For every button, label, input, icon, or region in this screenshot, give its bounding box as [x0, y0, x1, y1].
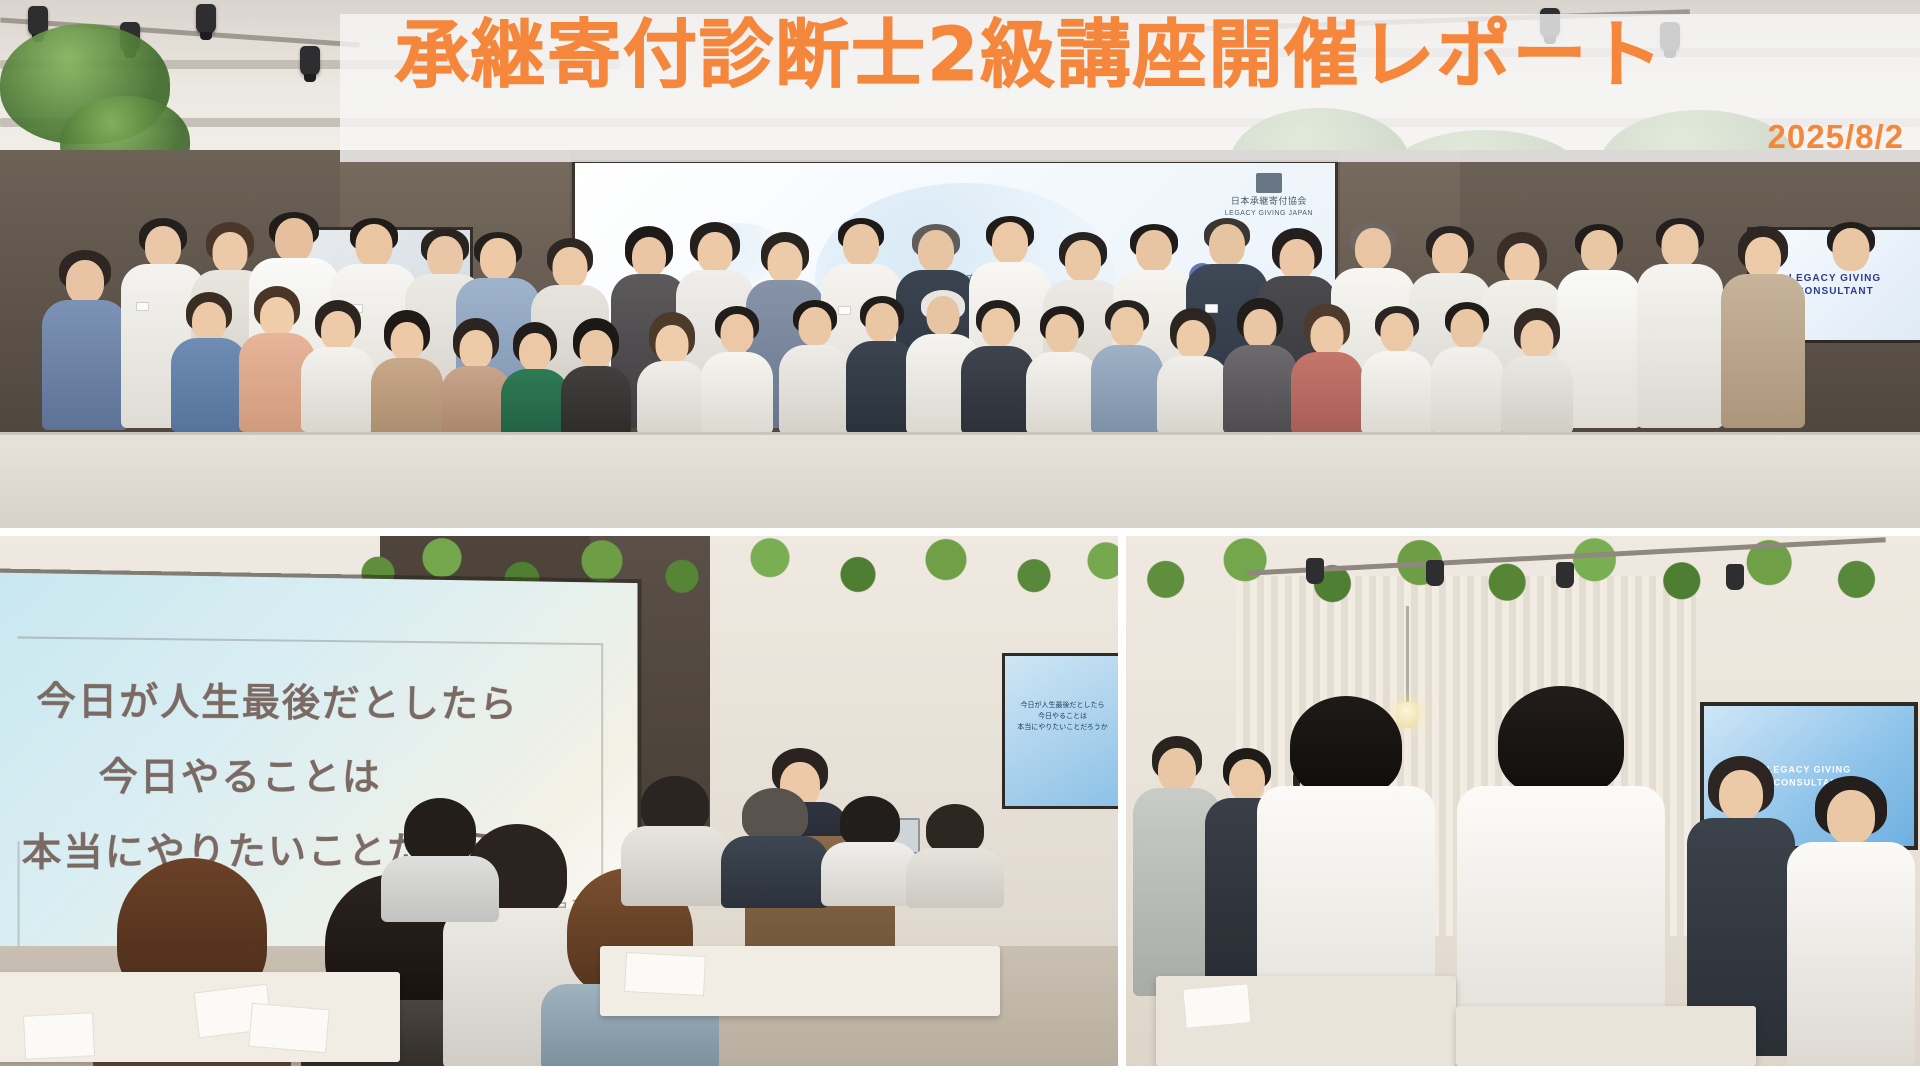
- audience-member: [720, 788, 830, 908]
- attendee: [1720, 226, 1806, 428]
- attendee: [1290, 304, 1364, 434]
- quote-line-1: 今日が人生最後だとしたら: [36, 669, 518, 728]
- attendee: [300, 300, 376, 432]
- audience-member: [380, 798, 500, 918]
- audience-member: [905, 804, 1005, 908]
- photo-divider-vertical: [1118, 536, 1126, 1080]
- document: [248, 1003, 330, 1054]
- org-logo: 日本承継寄付協会 LEGACY GIVING JAPAN: [1225, 173, 1313, 219]
- attendee: [1636, 218, 1724, 428]
- document: [624, 952, 706, 996]
- attendee: [1156, 308, 1230, 434]
- attendee: [1806, 222, 1896, 428]
- event-date: 2025/8/2: [1768, 118, 1904, 156]
- attendee: [700, 306, 774, 434]
- attendee: [1025, 306, 1099, 434]
- attendee: [1090, 300, 1164, 434]
- attendee: [370, 310, 444, 434]
- spotlight-icon: [1426, 560, 1444, 586]
- table: [1456, 1006, 1756, 1066]
- page-title: 承継寄付診断士2級講座開催レポート: [395, 18, 1665, 92]
- attendee: [1786, 776, 1916, 1066]
- spotlight-icon: [1306, 558, 1324, 584]
- org-logo-line1: 日本承継寄付協会: [1231, 196, 1307, 206]
- spotlight-icon: [300, 46, 320, 76]
- document: [1182, 983, 1251, 1029]
- attendee: [560, 318, 632, 434]
- org-logo-mark: [1256, 173, 1282, 193]
- quote-line-2: 今日やることは: [99, 745, 382, 801]
- audience-member: [620, 776, 730, 906]
- pendant-light: [1406, 606, 1409, 706]
- attendee: [636, 312, 708, 434]
- photo-divider-horizontal: [0, 528, 1920, 536]
- lecture-room-photo: 今日が人生最後だとしたら 今日やることは 本当にやりたいことだろうか スティーブ…: [0, 536, 1118, 1066]
- attendee: [1360, 306, 1434, 434]
- org-logo-line2: LEGACY GIVING JAPAN: [1225, 210, 1313, 217]
- attendee: [170, 292, 248, 432]
- secondary-screen: 今日が人生最後だとしたら今日やることは本当にやりたいことだろうか: [1005, 656, 1118, 806]
- networking-photo: LEGACY GIVING CONSULTANT: [1126, 536, 1920, 1066]
- bottom-photo-row: 今日が人生最後だとしたら 今日やることは 本当にやりたいことだろうか スティーブ…: [0, 536, 1920, 1080]
- secondary-screen-text: 今日が人生最後だとしたら今日やることは本当にやりたいことだろうか: [1017, 700, 1108, 734]
- document: [23, 1012, 95, 1060]
- attendee: [778, 300, 852, 434]
- spotlight-icon: [1726, 564, 1744, 590]
- spotlight-icon: [196, 4, 216, 34]
- attendee: [40, 250, 130, 430]
- attendee: [1222, 298, 1298, 434]
- report-poster: 日本承継寄付協会 LEGACY GIVING JAPAN 2025年度版 LEG…: [0, 0, 1920, 1080]
- attendee: [1430, 302, 1504, 434]
- foreground-table: [0, 432, 1920, 528]
- spotlight-icon: [1556, 562, 1574, 588]
- attendee: [1500, 308, 1574, 434]
